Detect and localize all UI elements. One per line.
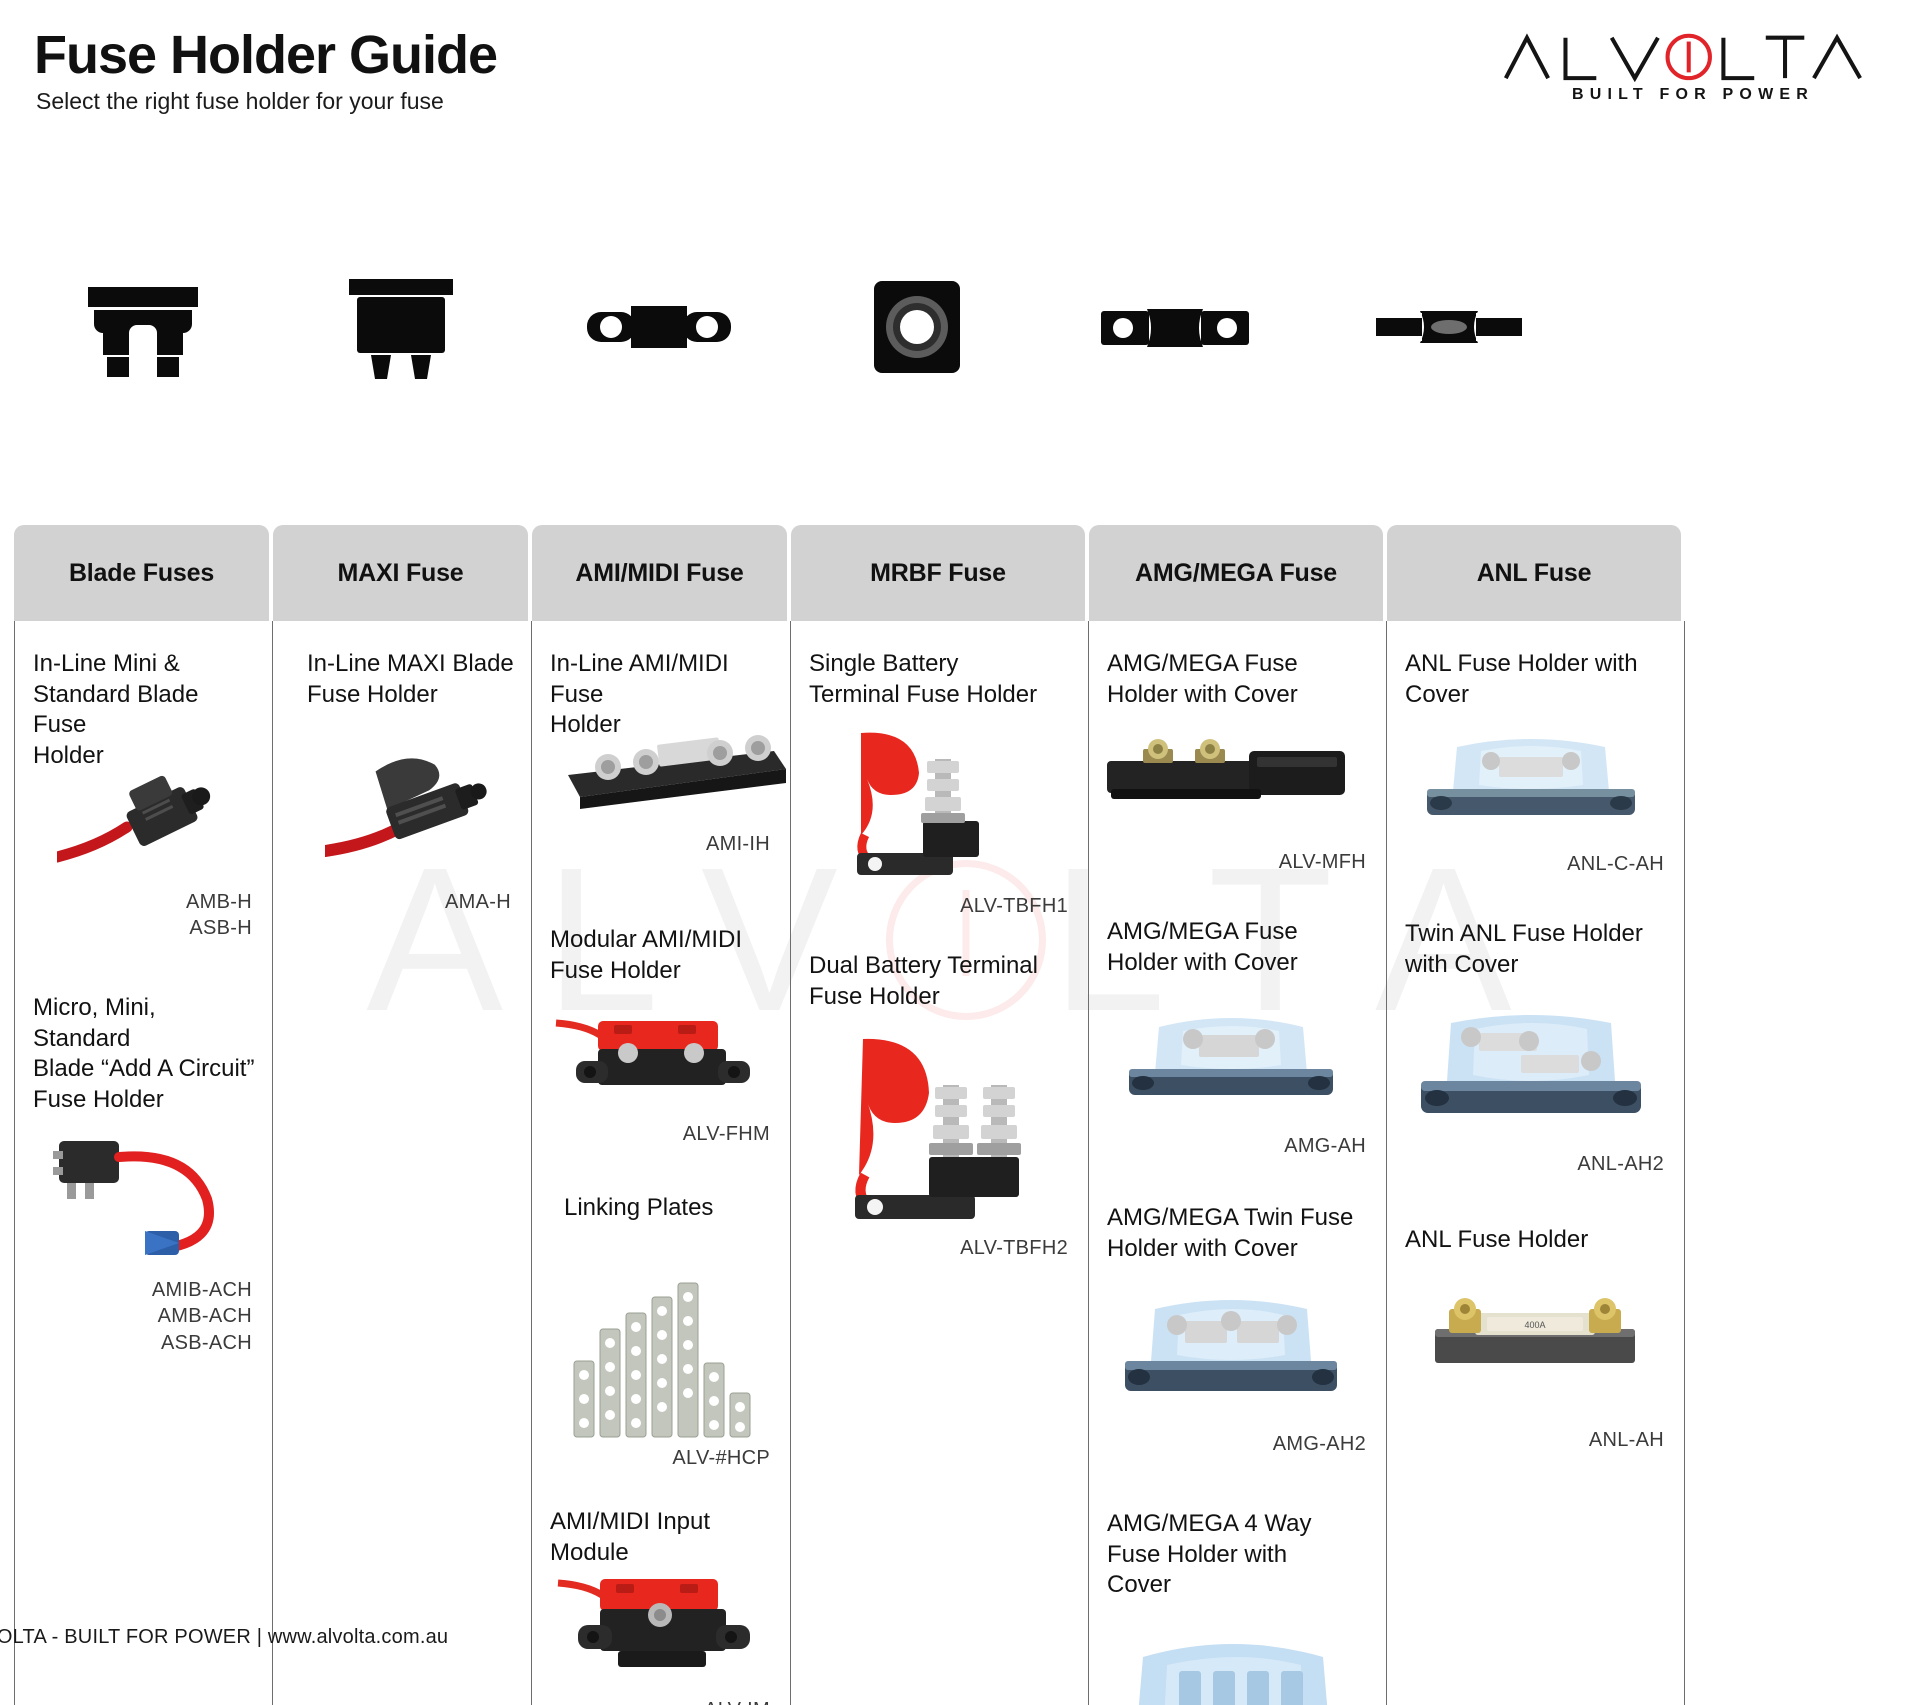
product-code: ANL-C-AH — [1567, 851, 1664, 877]
column-header-label: MRBF Fuse — [870, 559, 1006, 588]
product-name: In-Line MAXI Blade Fuse Holder — [273, 649, 531, 710]
product-code: ALV-MFH — [1279, 849, 1366, 875]
product-card[interactable]: In-Line AMI/MIDI Fuse Holder — [532, 649, 790, 879]
product-name: Micro, Mini, Standard Blade “Add A Circu… — [15, 993, 272, 1116]
product-card[interactable]: Single Battery Terminal Fuse Holder — [791, 649, 1088, 939]
product-name: Twin ANL Fuse Holder with Cover — [1387, 919, 1684, 980]
product-card[interactable]: ANL Fuse Holder 400A ANL-A — [1387, 1225, 1684, 1505]
product-card[interactable]: Modular AMI/MIDI Fuse Holder — [532, 925, 790, 1175]
product-name: ANL Fuse Holder with Cover — [1387, 649, 1684, 710]
column-header-ami-midi-fuse: AMI/MIDI Fuse — [532, 525, 787, 621]
page-header: Fuse Holder Guide Select the right fuse … — [0, 0, 1920, 132]
linking-plates-image — [568, 1253, 768, 1443]
fuse-holder-guide-page: ALV LTA Fuse Holder Guide Select the rig… — [0, 0, 1920, 1705]
amg-mega-fuse-holder-clear-image — [1113, 999, 1349, 1115]
maxi-fuse-icon — [343, 275, 459, 379]
ami-midi-fuse-icon — [587, 304, 731, 350]
column-header-label: ANL Fuse — [1477, 559, 1592, 588]
amg-mega-fuse-icon-cell — [1046, 262, 1304, 392]
column-header-label: Blade Fuses — [69, 559, 214, 588]
product-code: AMI-IH — [706, 831, 770, 857]
logo-tagline: BUILT FOR POWER — [1500, 86, 1880, 104]
product-card[interactable]: In-Line MAXI Blade Fuse Holder AMA-H — [273, 649, 531, 979]
product-code: AMA-H — [445, 889, 511, 915]
product-name: Linking Plates — [532, 1193, 790, 1224]
page-title: Fuse Holder Guide — [34, 24, 497, 86]
product-card[interactable]: Dual Battery Terminal Fuse Holder — [791, 951, 1088, 1281]
product-name: AMG/MEGA Twin Fuse Holder with Cover — [1089, 1203, 1386, 1264]
product-card[interactable]: AMG/MEGA Fuse Holder with Cover ALV-MF — [1089, 649, 1386, 901]
svg-text:400A: 400A — [1524, 1320, 1545, 1330]
inline-maxi-fuse-holder-image — [325, 747, 515, 867]
product-card[interactable]: AMG/MEGA 4 Way Fuse Holder with Cover — [1089, 1509, 1386, 1705]
product-code: AMIB-ACH AMB-ACH ASB-ACH — [152, 1277, 252, 1356]
column-ami-midi-fuse: In-Line AMI/MIDI Fuse Holder — [532, 621, 791, 1705]
fuse-comparison-table: Blade Fuses MAXI Fuse AMI/MIDI Fuse MRBF… — [14, 525, 1906, 1705]
maxi-fuse-icon-cell — [272, 262, 530, 392]
page-subtitle: Select the right fuse holder for your fu… — [36, 88, 444, 115]
product-name: Single Battery Terminal Fuse Holder — [791, 649, 1088, 710]
amg-mega-fuse-holder-black-image — [1099, 731, 1355, 811]
product-code: ALV-IM — [704, 1697, 770, 1705]
product-name: AMI/MIDI Input Module — [532, 1507, 790, 1568]
product-code: AMB-H ASB-H — [186, 889, 252, 942]
column-maxi-fuse: In-Line MAXI Blade Fuse Holder AMA-H — [273, 621, 532, 1705]
footer-text: ALVOLTA - BUILT FOR POWER | www.alvolta.… — [0, 1626, 1880, 1649]
fuse-type-icon-strip — [0, 262, 1920, 392]
product-card[interactable]: AMI/MIDI Input Module — [532, 1507, 790, 1705]
column-header-mrbf-fuse: MRBF Fuse — [791, 525, 1085, 621]
product-card[interactable]: Linking Plates — [532, 1193, 790, 1483]
modular-ami-midi-fuse-holder-image — [554, 1003, 774, 1113]
product-code: ALV-FHM — [683, 1121, 770, 1147]
product-name: AMG/MEGA Fuse Holder with Cover — [1089, 649, 1386, 710]
product-code: AMG-AH2 — [1273, 1431, 1366, 1457]
product-card[interactable]: AMG/MEGA Twin Fuse Holder with Cover — [1089, 1203, 1386, 1493]
add-a-circuit-fuse-holder-image — [49, 1123, 249, 1263]
product-card[interactable]: AMG/MEGA Fuse Holder with Cover AMG-AH — [1089, 917, 1386, 1187]
twin-anl-fuse-holder-image — [1409, 1003, 1653, 1131]
product-card[interactable]: Twin ANL Fuse Holder with Cover — [1387, 919, 1684, 1209]
column-header-label: AMG/MEGA Fuse — [1135, 559, 1337, 588]
blade-fuse-icon-cell — [14, 262, 272, 392]
column-header-anl-fuse: ANL Fuse — [1387, 525, 1681, 621]
product-code: AMG-AH — [1284, 1133, 1366, 1159]
mrbf-fuse-icon — [874, 281, 960, 373]
product-code: ALV-TBFH1 — [960, 893, 1068, 919]
column-blade-fuses: In-Line Mini & Standard Blade Fuse Holde… — [14, 621, 273, 1705]
product-code: ANL-AH — [1589, 1427, 1664, 1453]
column-amg-mega-fuse: AMG/MEGA Fuse Holder with Cover ALV-MF — [1089, 621, 1387, 1705]
column-header-label: MAXI Fuse — [338, 559, 464, 588]
table-header-row: Blade Fuses MAXI Fuse AMI/MIDI Fuse MRBF… — [14, 525, 1906, 621]
ami-midi-fuse-icon-cell — [530, 262, 788, 392]
product-name: Modular AMI/MIDI Fuse Holder — [532, 925, 790, 986]
table-body: In-Line Mini & Standard Blade Fuse Holde… — [14, 621, 1906, 1705]
blade-fuse-icon — [80, 277, 206, 377]
product-name: AMG/MEGA 4 Way Fuse Holder with Cover — [1089, 1509, 1386, 1601]
product-code: ANL-AH2 — [1577, 1151, 1664, 1177]
product-code: ALV-TBFH2 — [960, 1235, 1068, 1261]
product-card[interactable]: ANL Fuse Holder with Cover ANL-C-AH — [1387, 649, 1684, 901]
amg-mega-twin-fuse-holder-image — [1111, 1287, 1351, 1411]
amg-mega-fuse-icon — [1101, 305, 1249, 349]
column-header-label: AMI/MIDI Fuse — [575, 559, 743, 588]
column-header-maxi-fuse: MAXI Fuse — [273, 525, 528, 621]
anl-fuse-holder-cover-image — [1413, 723, 1649, 833]
product-name: AMG/MEGA Fuse Holder with Cover — [1089, 917, 1386, 978]
anl-fuse-icon-cell — [1304, 262, 1594, 392]
column-anl-fuse: ANL Fuse Holder with Cover ANL-C-AH — [1387, 621, 1685, 1705]
product-name: Dual Battery Terminal Fuse Holder — [791, 951, 1088, 1012]
dual-battery-terminal-fuse-holder-image — [825, 1035, 1075, 1225]
product-code: ALV-#HCP — [672, 1445, 770, 1471]
column-mrbf-fuse: Single Battery Terminal Fuse Holder — [791, 621, 1089, 1705]
product-name: In-Line Mini & Standard Blade Fuse Holde… — [15, 649, 272, 772]
product-card[interactable]: In-Line Mini & Standard Blade Fuse Holde… — [15, 649, 272, 979]
mrbf-fuse-icon-cell — [788, 262, 1046, 392]
alvolta-logo: BUILT FOR POWER — [1500, 30, 1880, 112]
product-card[interactable]: Micro, Mini, Standard Blade “Add A Circu… — [15, 993, 272, 1373]
logo-wordmark-icon — [1500, 30, 1866, 82]
column-header-amg-mega-fuse: AMG/MEGA Fuse — [1089, 525, 1383, 621]
anl-fuse-holder-open-image: 400A — [1427, 1279, 1643, 1389]
anl-fuse-icon — [1376, 305, 1522, 349]
inline-blade-fuse-holder-image — [57, 761, 247, 871]
product-name: ANL Fuse Holder — [1387, 1225, 1684, 1256]
column-header-blade-fuses: Blade Fuses — [14, 525, 269, 621]
single-battery-terminal-fuse-holder-image — [827, 725, 1057, 885]
inline-ami-midi-fuse-holder-image — [562, 717, 792, 827]
